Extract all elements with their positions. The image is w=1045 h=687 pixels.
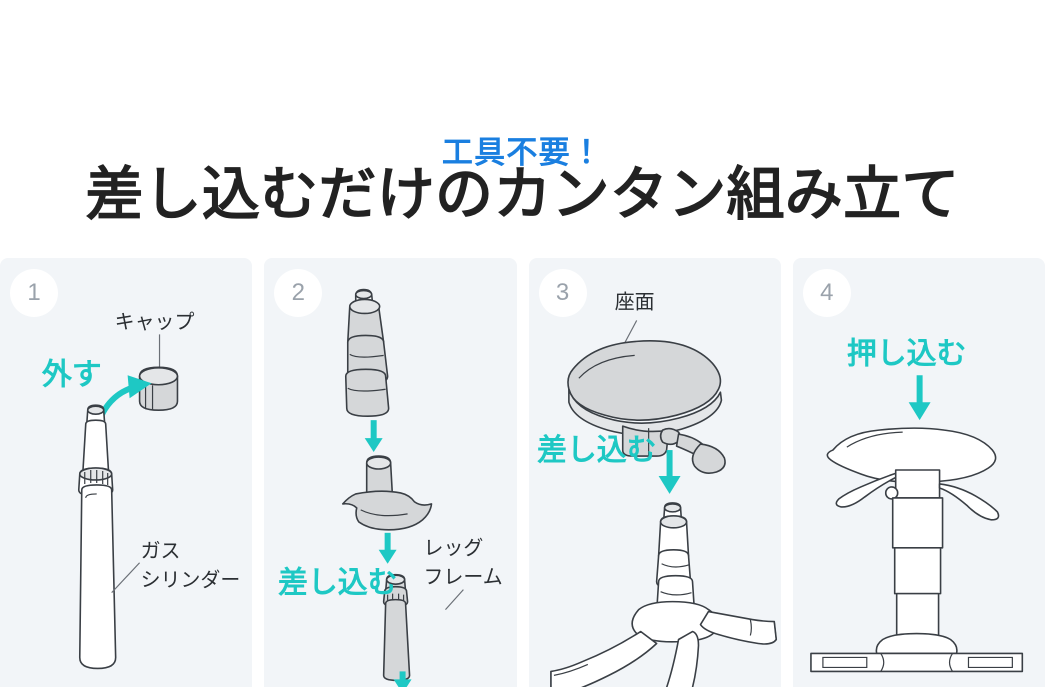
insert-action-label: 差し込む xyxy=(536,434,656,467)
seat-part xyxy=(567,341,720,435)
step-number-badge: 1 xyxy=(10,269,58,317)
insert-action-label: 差し込む xyxy=(278,567,398,600)
leg-frame-label-line1: レッグ xyxy=(424,537,484,560)
cap-part xyxy=(140,367,178,410)
assembled-stool xyxy=(811,428,1022,671)
step-2-illustration: 差し込む レッグ フレーム xyxy=(264,258,516,687)
leg-frame-leader-line xyxy=(446,590,464,610)
steps-strip: 1 xyxy=(0,258,1045,687)
push-arrow-icon xyxy=(908,375,930,420)
insert-arrow-1-icon xyxy=(365,420,383,452)
step-panel-3[interactable]: 3 xyxy=(529,258,781,687)
step-panel-4[interactable]: 4 xyxy=(793,258,1045,687)
push-action-label: 押し込む xyxy=(847,337,967,370)
telescoping-tube-part xyxy=(346,290,389,417)
step-4-illustration: 押し込む xyxy=(793,258,1045,687)
gas-cylinder-label-line1: ガス xyxy=(141,540,181,563)
step-1-illustration: キャップ 外す ガス シリンダー xyxy=(0,258,252,687)
assembly-instruction-graphic: 工具不要！ 差し込むだけのカンタン組み立て 1 xyxy=(0,0,1045,687)
step-number-badge: 4 xyxy=(803,269,851,317)
gas-cylinder-label-line2: シリンダー xyxy=(141,569,241,592)
leg-frame-label-line2: フレーム xyxy=(424,567,503,589)
insert-arrow-icon xyxy=(658,450,680,494)
insert-arrow-2-icon xyxy=(379,533,397,564)
page-title: 差し込むだけのカンタン組み立て xyxy=(0,166,1045,224)
step-3-illustration: 座面 差し込む xyxy=(529,258,781,687)
step-panel-1[interactable]: 1 xyxy=(0,258,252,687)
remove-action-label: 外す xyxy=(41,358,102,391)
step-number-badge: 2 xyxy=(274,269,322,317)
header: 工具不要！ 差し込むだけのカンタン組み立て xyxy=(0,0,1045,258)
gas-cylinder-part xyxy=(79,405,116,668)
connector-part xyxy=(343,456,432,530)
cylinder-leader-line xyxy=(112,563,140,593)
seat-label: 座面 xyxy=(614,290,654,313)
step-number-badge: 3 xyxy=(539,269,587,317)
leg-frame-part xyxy=(550,602,775,687)
step-panel-2[interactable]: 2 xyxy=(264,258,516,687)
cap-label: キャップ xyxy=(115,311,195,333)
